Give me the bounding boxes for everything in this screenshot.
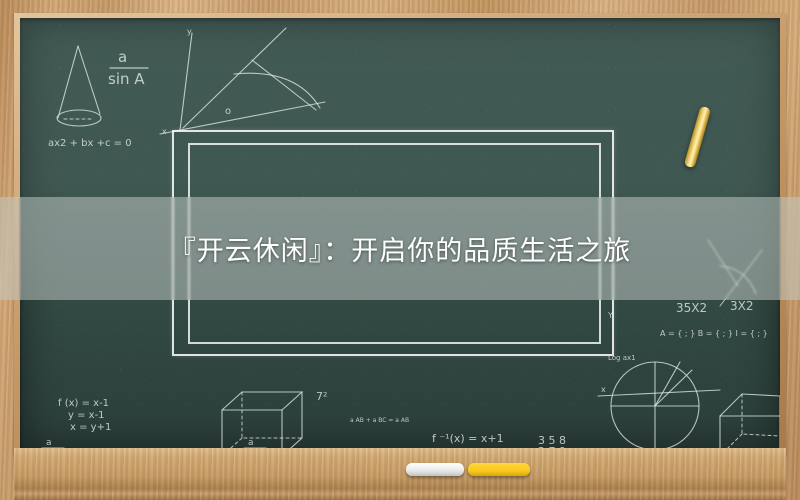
chalk-term-35x2: 35X2: [676, 301, 707, 315]
chalk-term-3x2: 3X2: [730, 299, 754, 313]
chalk-sine-a: a: [118, 48, 127, 66]
chalk-axis-y: y: [187, 27, 192, 36]
yellow-chalk-stick-ledge-icon: [468, 463, 530, 476]
chalk-set-notation: A = { ; } B = { ; } I = { ; }: [660, 329, 768, 338]
chalk-small-expr: a AB + a BC = a AB: [350, 417, 409, 424]
chalk-sine-a3: a: [248, 438, 254, 448]
chalk-circle-diagram: x: [598, 362, 720, 450]
chalk-sine-denom: sin A: [108, 70, 145, 88]
chalk-angle-diagram: y x o: [160, 27, 325, 136]
chalk-inverse-fn: f ⁻¹(x) = x+1: [432, 432, 504, 445]
chalk-fx-1: f (x) = x-1: [58, 398, 109, 409]
chalk-angle-label: o: [225, 106, 231, 117]
chalk-axis-x: x: [162, 127, 167, 136]
chalk-matrix-row1: 3 5 8: [538, 434, 566, 447]
chalk-cone-drawing: [57, 46, 101, 126]
chalk-power: 7²: [316, 390, 327, 403]
chalk-fx-3: x = y+1: [70, 422, 111, 433]
chalk-cube-right: [720, 394, 780, 450]
chalk-fx-2: y = x-1: [68, 410, 105, 421]
chalk-sine-rule: a sin A: [108, 48, 148, 88]
chalk-ledge: [14, 448, 786, 500]
chalk-quadratic: ax2 + bx +c = 0: [48, 138, 132, 149]
chalkboard-banner: a sin A ax2 + bx +c = 0 y x o: [0, 0, 800, 500]
chalk-axis-x-circle: x: [601, 385, 606, 394]
chalk-sine-a2: a: [46, 438, 52, 448]
white-chalk-stick-icon: [406, 463, 464, 476]
yellow-chalk-stick-icon: [684, 106, 712, 169]
page-title: 『开云休闲』：开启你的品质生活之旅: [0, 197, 800, 300]
chalk-cube-left: [222, 392, 302, 450]
chalk-function-block: f (x) = x-1 y = x-1 x = y+1: [58, 398, 111, 433]
